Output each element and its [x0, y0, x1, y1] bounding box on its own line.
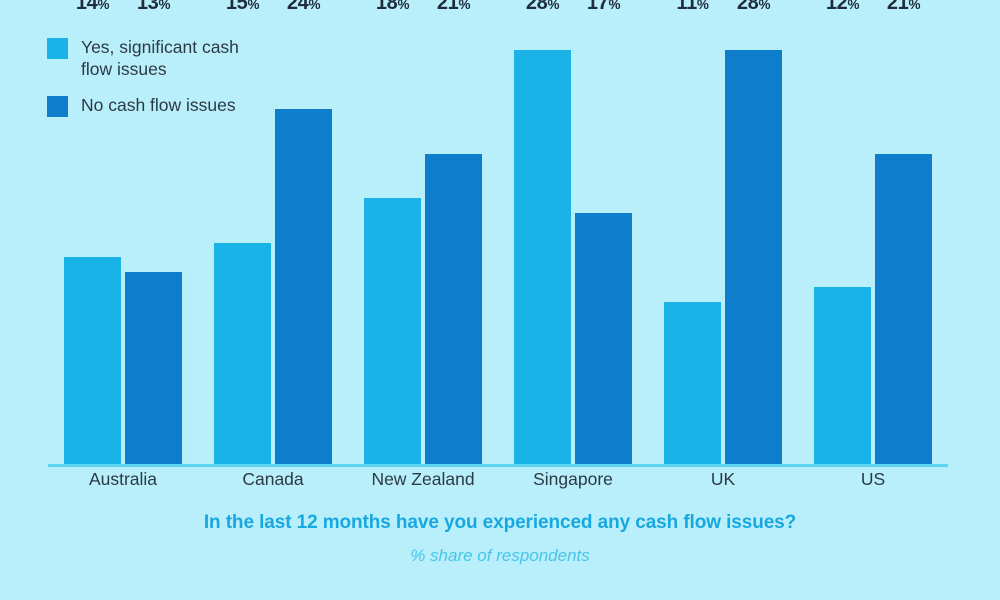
bar[interactable]: 14%: [64, 257, 121, 465]
bar-group: 12%21%: [798, 20, 948, 465]
bar-item[interactable]: 28%: [514, 20, 571, 465]
bar-value-label: 21%: [887, 0, 920, 15]
bar-value-label: 15%: [226, 0, 259, 15]
bar[interactable]: 13%: [125, 272, 182, 465]
bar-group: 15%24%: [198, 20, 348, 465]
bar-value-label: 21%: [437, 0, 470, 15]
bar[interactable]: 21%: [875, 154, 932, 466]
bar-item[interactable]: 11%: [664, 20, 721, 465]
chart-title: In the last 12 months have you experienc…: [0, 512, 1000, 534]
bar-item[interactable]: 18%: [364, 20, 421, 465]
chart-container: Yes, significant cash flow issues No cas…: [0, 0, 1000, 600]
bar-group: 18%21%: [348, 20, 498, 465]
x-axis-label: Singapore: [498, 469, 648, 490]
bar[interactable]: 18%: [364, 198, 421, 465]
bar[interactable]: 17%: [575, 213, 632, 465]
bar-item[interactable]: 24%: [275, 20, 332, 465]
bar[interactable]: 15%: [214, 243, 271, 466]
bar-item[interactable]: 12%: [814, 20, 871, 465]
bar-group: 11%28%: [648, 20, 798, 465]
bar-group: 28%17%: [498, 20, 648, 465]
x-axis-labels: AustraliaCanadaNew ZealandSingaporeUKUS: [48, 469, 948, 501]
bar-value-label: 17%: [587, 0, 620, 15]
bar-value-label: 28%: [526, 0, 559, 15]
bar[interactable]: 12%: [814, 287, 871, 465]
x-axis-label: US: [798, 469, 948, 490]
bar[interactable]: 11%: [664, 302, 721, 465]
x-axis-label: UK: [648, 469, 798, 490]
bar-item[interactable]: 21%: [425, 20, 482, 465]
bar[interactable]: 21%: [425, 154, 482, 466]
bar[interactable]: 28%: [514, 50, 571, 465]
bar-item[interactable]: 17%: [575, 20, 632, 465]
chart-subtitle: % share of respondents: [0, 546, 1000, 566]
bar-item[interactable]: 13%: [125, 20, 182, 465]
bar-value-label: 12%: [826, 0, 859, 15]
bar-value-label: 28%: [737, 0, 770, 15]
bar-value-label: 13%: [137, 0, 170, 15]
bar-value-label: 24%: [287, 0, 320, 15]
bar-value-label: 11%: [676, 0, 708, 15]
bar-value-label: 14%: [76, 0, 109, 15]
x-axis-line: [48, 464, 948, 467]
bar[interactable]: 24%: [275, 109, 332, 465]
plot-area: 14%13%15%24%18%21%28%17%11%28%12%21%: [48, 20, 948, 465]
bar-item[interactable]: 21%: [875, 20, 932, 465]
x-axis-label: New Zealand: [348, 469, 498, 490]
bar-item[interactable]: 14%: [64, 20, 121, 465]
bar-group: 14%13%: [48, 20, 198, 465]
x-axis-label: Australia: [48, 469, 198, 490]
bar-value-label: 18%: [376, 0, 409, 15]
x-axis-label: Canada: [198, 469, 348, 490]
bar-item[interactable]: 28%: [725, 20, 782, 465]
bar[interactable]: 28%: [725, 50, 782, 465]
bar-item[interactable]: 15%: [214, 20, 271, 465]
